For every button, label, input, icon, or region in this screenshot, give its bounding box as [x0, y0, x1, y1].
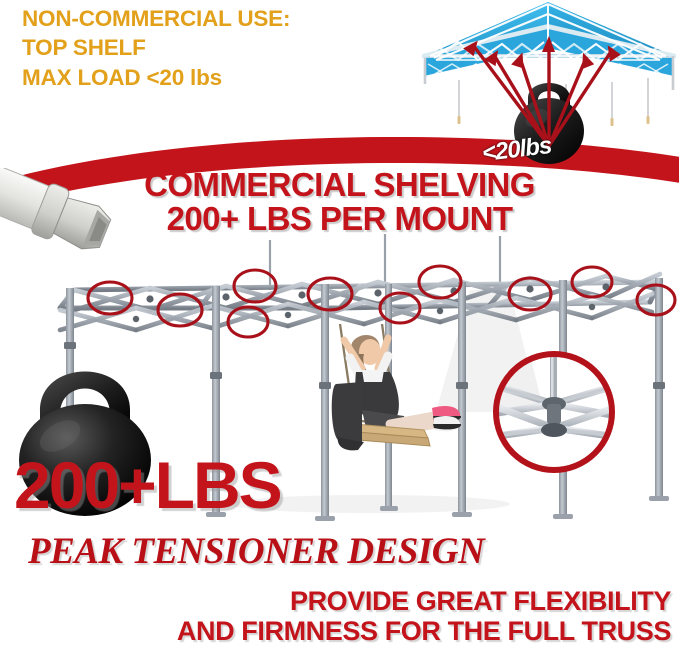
non-commercial-use-warning: NON-COMMERCIAL USE: TOP SHELF MAX LOAD <…: [22, 4, 362, 92]
peak-tensioner-design-title: PEAK TENSIONER DESIGN: [28, 530, 484, 573]
warning-line-1: NON-COMMERCIAL USE:: [22, 4, 362, 33]
commercial-shelving-headline: COMMERCIAL SHELVING 200+ LBS PER MOUNT: [0, 168, 679, 237]
warning-line-2: TOP SHELF: [22, 33, 362, 62]
infographic-canvas: <20lbs NON-COMMERCIAL USE: TOP SHELF MAX…: [0, 0, 679, 666]
warning-line-3: MAX LOAD <20 lbs: [22, 63, 362, 92]
headline-line-1: COMMERCIAL SHELVING: [0, 168, 679, 202]
flexibility-firmness-caption: PROVIDE GREAT FLEXIBILITY AND FIRMNESS F…: [0, 586, 679, 646]
caption-line-1: PROVIDE GREAT FLEXIBILITY: [0, 586, 671, 616]
child-on-swing: [318, 324, 478, 464]
caption-line-2: AND FIRMNESS FOR THE FULL TRUSS: [0, 616, 671, 646]
two-hundred-plus-lbs: 200+LBS: [14, 452, 281, 518]
peak-tensioner-detail-zoom: [484, 344, 624, 484]
